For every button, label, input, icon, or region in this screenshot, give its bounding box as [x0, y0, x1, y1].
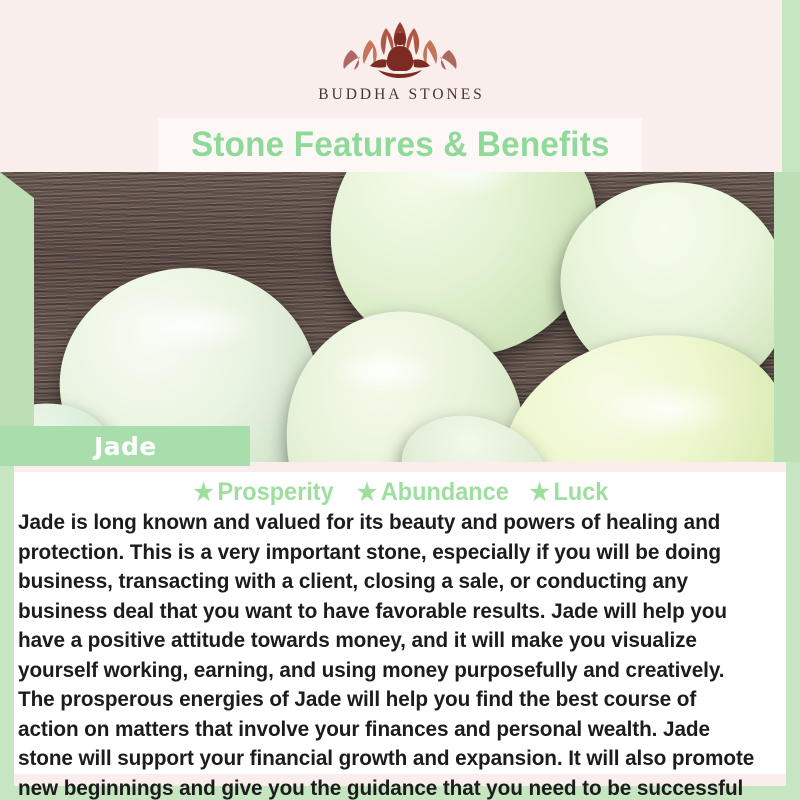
page-title: Stone Features & Benefits: [191, 125, 610, 165]
product-info-card: BUDDHA STONES Stone Features & Benefits …: [0, 0, 800, 800]
benefit-item: ★Luck: [530, 478, 609, 507]
benefit-label: Prosperity: [217, 478, 333, 506]
benefits-list: ★Prosperity★Abundance★Luck: [0, 478, 800, 507]
brand-name: BUDDHA STONES: [0, 86, 800, 104]
page-title-band: Stone Features & Benefits: [158, 118, 642, 172]
description-text: Jade is long known and valued for its be…: [18, 508, 759, 800]
stone-name-label: Jade: [94, 432, 157, 461]
star-icon: ★: [530, 479, 550, 506]
star-icon: ★: [357, 479, 377, 506]
left-green-accent-strip: [0, 172, 34, 462]
lotus-meditation-icon: [334, 16, 466, 82]
right-green-accent-strip: [774, 172, 800, 462]
benefit-item: ★Abundance: [357, 478, 509, 507]
jade-stones-photo: [0, 172, 800, 462]
benefit-item: ★Prosperity: [193, 478, 333, 507]
star-icon: ★: [193, 479, 213, 506]
benefit-label: Luck: [554, 478, 609, 506]
brand-logo: BUDDHA STONES: [0, 16, 800, 104]
stone-name-badge: Jade: [0, 426, 250, 466]
benefit-label: Abundance: [381, 478, 509, 506]
